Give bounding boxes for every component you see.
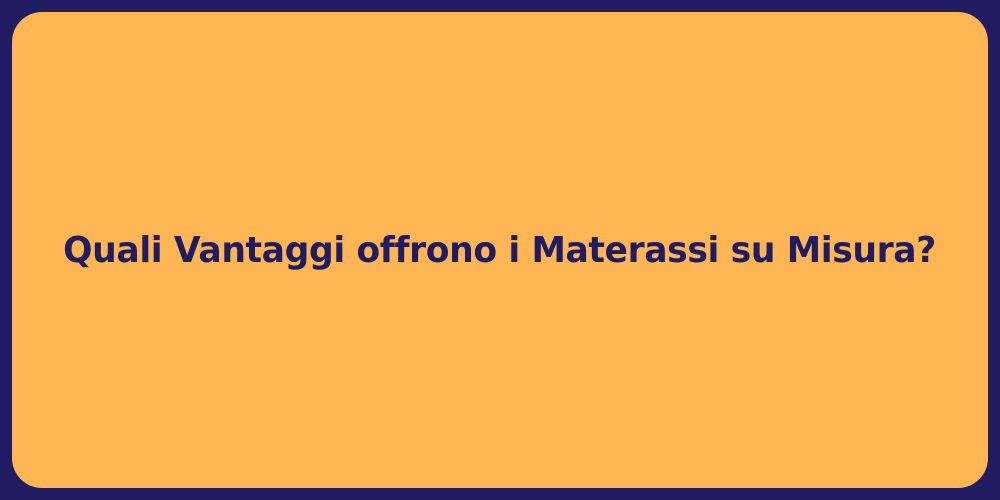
page-title: Quali Vantaggi offrono i Materassi su Mi…: [64, 228, 937, 273]
content-card: Quali Vantaggi offrono i Materassi su Mi…: [12, 12, 988, 488]
page-background: Quali Vantaggi offrono i Materassi su Mi…: [0, 0, 1000, 500]
heading-container: Quali Vantaggi offrono i Materassi su Mi…: [12, 228, 988, 273]
